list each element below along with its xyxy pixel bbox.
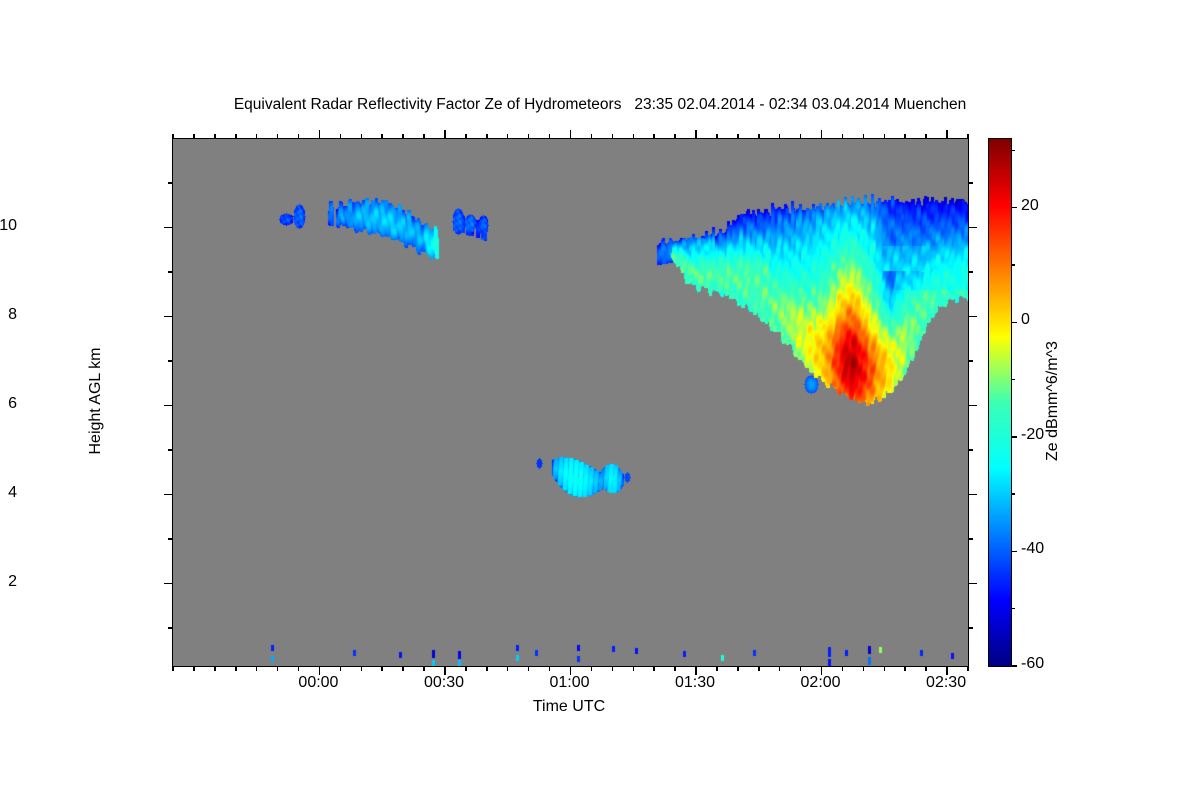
x-axis-title: Time UTC [533, 698, 605, 716]
chart-page: Equivalent Radar Reflectivity Factor Ze … [0, 0, 1200, 800]
axis-tick [465, 134, 467, 139]
y-axis-tick-label: 8 [8, 306, 17, 324]
axis-tick [164, 227, 173, 229]
colorbar-tick [1011, 150, 1015, 152]
axis-tick [168, 449, 173, 451]
colorbar-gradient [989, 139, 1011, 666]
axis-tick [674, 666, 676, 671]
axis-tick [968, 360, 973, 362]
colorbar-tick-label: -60 [1021, 655, 1044, 673]
axis-tick [904, 134, 906, 139]
x-axis-tick-label: 00:00 [298, 674, 338, 692]
x-axis-tick-label: 02:00 [801, 674, 841, 692]
axis-tick [716, 666, 718, 671]
axis-tick [674, 134, 676, 139]
axis-tick [968, 627, 973, 629]
axis-tick [737, 134, 739, 139]
axis-tick [172, 666, 174, 671]
x-axis-tick-label: 01:00 [549, 674, 589, 692]
axis-tick [821, 130, 823, 139]
axis-tick [968, 494, 977, 496]
axis-tick [172, 134, 174, 139]
axis-tick [570, 130, 572, 139]
colorbar-title: Ze dBmm^6/m^3 [1044, 341, 1062, 461]
axis-tick [340, 666, 342, 671]
axis-tick [863, 134, 865, 139]
colorbar-tick [1011, 264, 1015, 266]
axis-tick [653, 134, 655, 139]
axis-tick [214, 134, 216, 139]
radar-heatmap-canvas [173, 139, 968, 666]
axis-tick [507, 134, 509, 139]
axis-tick [967, 666, 969, 671]
axis-tick [695, 130, 697, 139]
axis-tick [168, 627, 173, 629]
y-axis-title: Height AGL km [87, 347, 105, 454]
axis-tick [800, 666, 802, 671]
axis-tick [758, 134, 760, 139]
axis-tick [946, 130, 948, 139]
colorbar-tick [1011, 493, 1015, 495]
page-title: Equivalent Radar Reflectivity Factor Ze … [0, 96, 1200, 114]
axis-tick [193, 666, 195, 671]
colorbar-tick [1011, 379, 1015, 381]
axis-tick [591, 134, 593, 139]
axis-tick [716, 134, 718, 139]
axis-tick [779, 134, 781, 139]
axis-tick [842, 134, 844, 139]
x-axis-tick-label: 01:30 [675, 674, 715, 692]
axis-tick [444, 130, 446, 139]
axis-tick [423, 666, 425, 671]
axis-tick [925, 666, 927, 671]
colorbar-tick [1011, 665, 1017, 667]
colorbar-tick-label: 20 [1021, 197, 1039, 215]
axis-tick [591, 666, 593, 671]
axis-tick [758, 666, 760, 671]
axis-tick [528, 666, 530, 671]
axis-tick [256, 134, 258, 139]
axis-tick [402, 134, 404, 139]
plot-area [172, 138, 969, 667]
axis-tick [904, 666, 906, 671]
axis-tick [968, 271, 973, 273]
axis-tick [298, 666, 300, 671]
axis-tick [968, 538, 973, 540]
axis-tick [486, 134, 488, 139]
axis-tick [361, 134, 363, 139]
colorbar-tick [1011, 322, 1017, 324]
axis-tick [168, 271, 173, 273]
y-axis-tick-label: 10 [0, 217, 17, 235]
axis-tick [633, 134, 635, 139]
axis-tick [549, 134, 551, 139]
axis-tick [968, 405, 977, 407]
axis-tick [528, 134, 530, 139]
axis-tick [164, 494, 173, 496]
axis-tick [925, 134, 927, 139]
axis-tick [235, 666, 237, 671]
axis-tick [423, 134, 425, 139]
colorbar-tick-label: -20 [1021, 426, 1044, 444]
axis-tick [653, 666, 655, 671]
axis-tick [884, 134, 886, 139]
axis-tick [164, 405, 173, 407]
axis-tick [168, 360, 173, 362]
axis-tick [863, 666, 865, 671]
axis-tick [549, 666, 551, 671]
axis-tick [214, 666, 216, 671]
axis-tick [968, 227, 977, 229]
axis-tick [967, 134, 969, 139]
y-axis-tick-label: 2 [8, 573, 17, 591]
colorbar-tick [1011, 207, 1017, 209]
axis-tick [381, 134, 383, 139]
colorbar-tick [1011, 608, 1015, 610]
axis-tick [884, 666, 886, 671]
axis-tick [486, 666, 488, 671]
axis-tick [381, 666, 383, 671]
axis-tick [968, 449, 973, 451]
colorbar-tick [1011, 436, 1017, 438]
axis-tick [507, 666, 509, 671]
axis-tick [256, 666, 258, 671]
axis-tick [737, 666, 739, 671]
axis-tick [164, 316, 173, 318]
axis-tick [319, 130, 321, 139]
axis-tick [465, 666, 467, 671]
axis-tick [235, 134, 237, 139]
colorbar-tick [1011, 551, 1017, 553]
axis-tick [800, 134, 802, 139]
x-axis-tick-label: 02:30 [926, 674, 966, 692]
axis-tick [779, 666, 781, 671]
axis-tick [968, 316, 977, 318]
axis-tick [612, 666, 614, 671]
colorbar-tick-label: -40 [1021, 540, 1044, 558]
axis-tick [968, 182, 973, 184]
y-axis-tick-label: 4 [8, 484, 17, 502]
axis-tick [361, 666, 363, 671]
axis-tick [612, 134, 614, 139]
axis-tick [168, 538, 173, 540]
colorbar-tick-label: 0 [1021, 311, 1030, 329]
axis-tick [164, 583, 173, 585]
axis-tick [193, 134, 195, 139]
axis-tick [277, 666, 279, 671]
axis-tick [298, 134, 300, 139]
axis-tick [340, 134, 342, 139]
y-axis-tick-label: 6 [8, 395, 17, 413]
colorbar [988, 138, 1012, 667]
x-axis-tick-label: 00:30 [424, 674, 464, 692]
axis-tick [633, 666, 635, 671]
axis-tick [168, 182, 173, 184]
axis-tick [402, 666, 404, 671]
axis-tick [968, 583, 977, 585]
axis-tick [277, 134, 279, 139]
axis-tick [842, 666, 844, 671]
